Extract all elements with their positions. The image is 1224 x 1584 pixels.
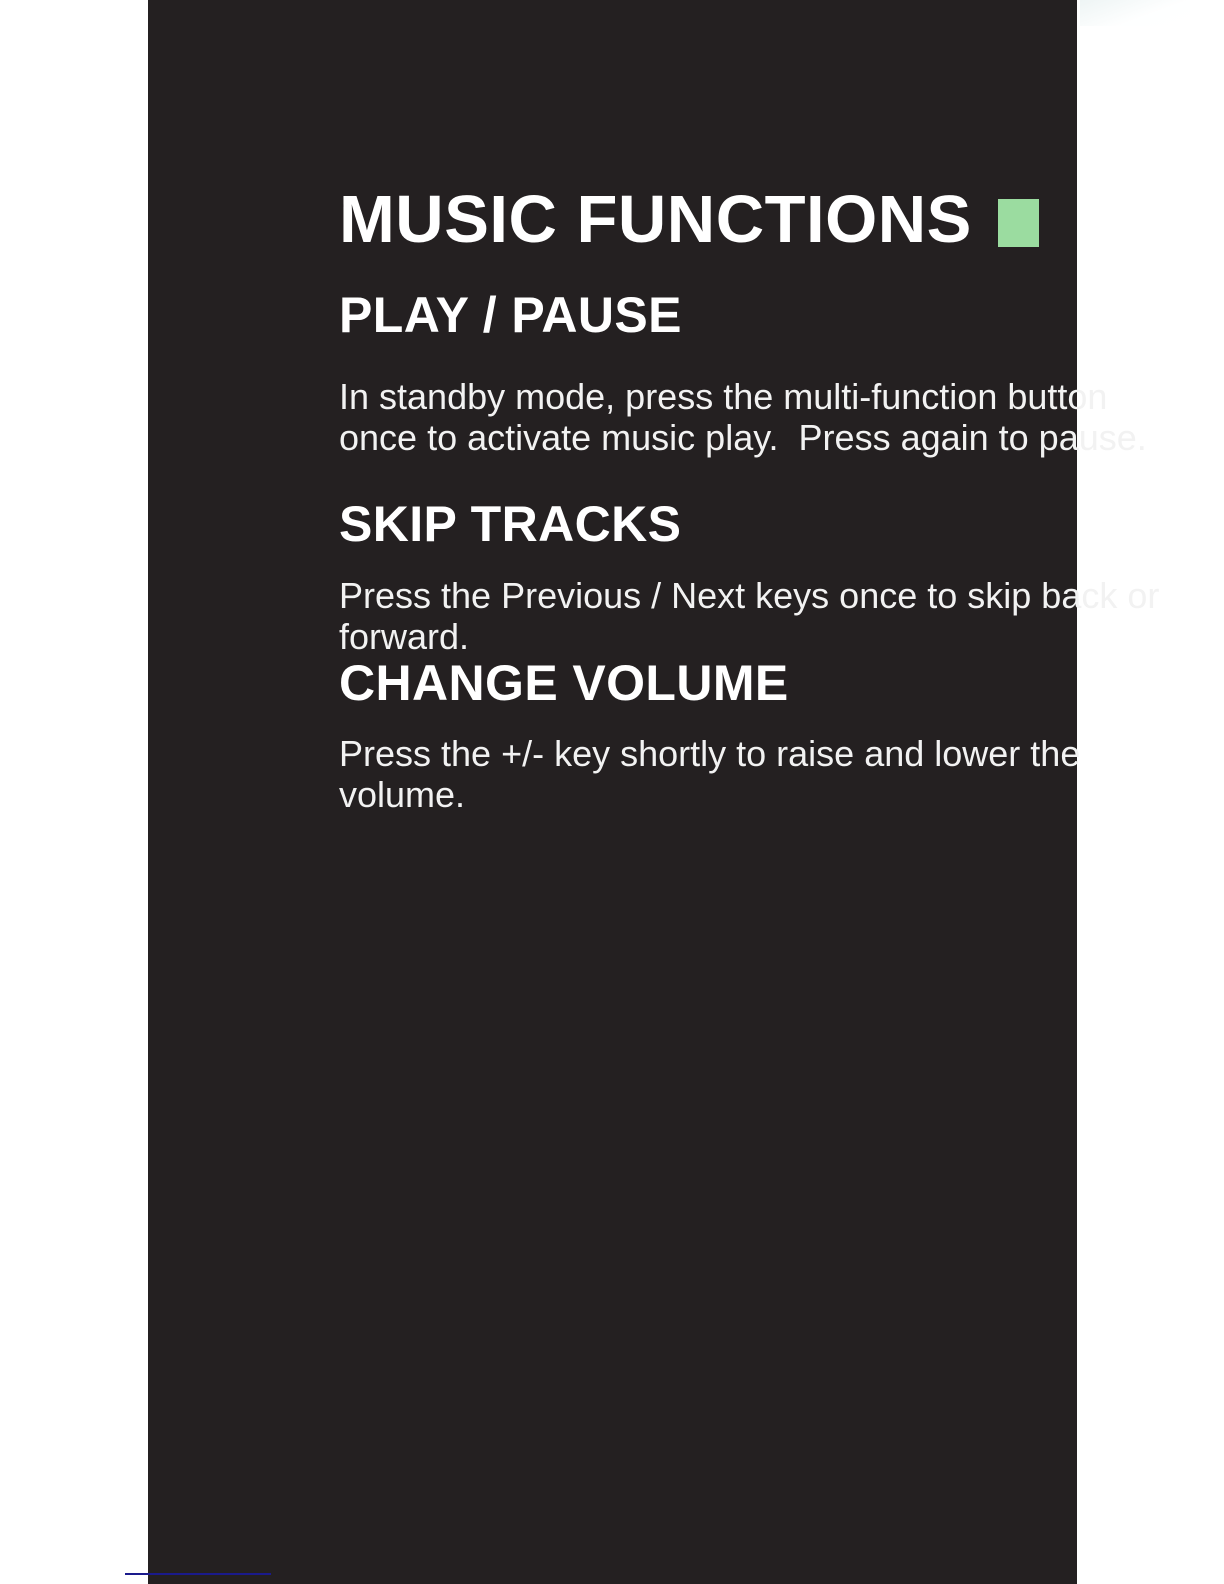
section-body-skip-tracks: Press the Previous / Next keys once to s… [339,575,1209,657]
green-square-icon [998,199,1039,247]
page-title: MUSIC FUNCTIONS [339,186,1039,253]
section-heading-change-volume: CHANGE VOLUME [339,658,789,708]
scan-smudge-artifact [1080,0,1190,26]
dark-content-panel: MUSIC FUNCTIONS PLAY / PAUSE In standby … [148,0,1077,1584]
section-heading-skip-tracks: SKIP TRACKS [339,499,681,549]
section-body-change-volume: Press the +/- key shortly to raise and l… [339,733,1159,815]
section-heading-play-pause: PLAY / PAUSE [339,290,682,340]
page-title-text: MUSIC FUNCTIONS [339,186,972,253]
blue-rule-artifact [125,1573,271,1575]
section-body-play-pause: In standby mode, press the multi-functio… [339,376,1159,458]
